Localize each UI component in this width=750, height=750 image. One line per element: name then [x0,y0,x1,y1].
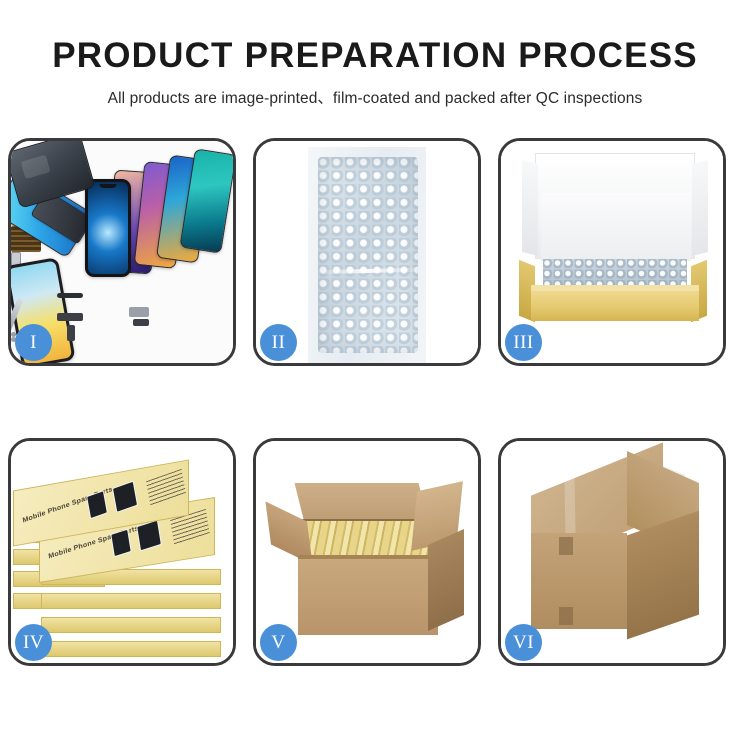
sealed-carton-front [531,533,627,629]
flex-cable-2 [57,313,83,321]
speaker-part [57,293,83,298]
step-badge-2: II [260,324,297,361]
carton-tab-lower [559,607,573,625]
box-spec-lines-1 [146,469,186,506]
flex-cable-4 [129,307,149,317]
box-chip-2a [110,529,132,558]
process-panel-grid: I II [8,138,742,666]
header: PRODUCT PREPARATION PROCESS All products… [0,0,750,108]
box-slab-r2 [41,593,221,609]
carton-side-face [428,529,464,631]
flex-cable-3 [67,325,75,341]
process-panel-6: VI [498,438,726,666]
page-title: PRODUCT PREPARATION PROCESS [0,36,750,76]
step-badge-1: I [15,324,52,361]
carton-front-face [298,559,438,635]
step-badge-5: V [260,624,297,661]
box-chip-1b [112,481,138,513]
box-chip-1a [86,490,108,519]
bubble-wrapped-product [318,157,418,353]
carton-tab-upper [559,537,573,555]
process-panel-3: III [498,138,726,366]
phone-screen-black-framed [85,179,131,277]
product-process-infographic: PRODUCT PREPARATION PROCESS All products… [0,0,750,750]
step-badge-3: III [505,324,542,361]
process-panel-5: V [253,438,481,666]
white-foam-sheet [541,193,691,261]
sealed-carton-top-seam [564,469,575,543]
kraft-tray-front [531,291,699,321]
page-subtitle: All products are image-printed、film-coat… [0,86,750,108]
process-panel-2: II [253,138,481,366]
process-panel-4: Mobile Phone Spare Parts Mobile Phone Sp… [8,438,236,666]
process-panel-1: I [8,138,236,366]
step-badge-4: IV [15,624,52,661]
flex-cable-5 [133,319,149,326]
box-chip-2b [136,520,162,552]
box-slab-r4 [41,641,221,657]
box-slab-r3 [41,617,221,633]
phone-back-panel [11,141,95,209]
step-badge-6: VI [505,624,542,661]
